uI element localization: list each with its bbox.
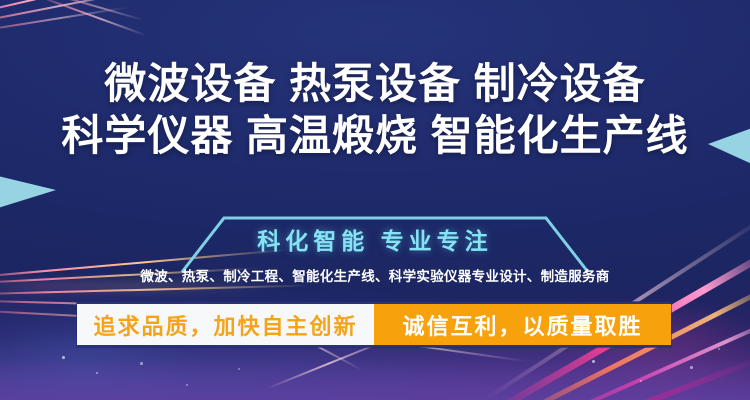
slogan-right[interactable]: 诚信互利，以质量取胜 bbox=[374, 302, 671, 347]
sparkle-dot bbox=[640, 380, 642, 382]
slogan-left[interactable]: 追求品质，加快自主创新 bbox=[77, 302, 374, 347]
sparkle-dot bbox=[186, 384, 188, 386]
sparkle-dot bbox=[592, 360, 595, 363]
promo-banner: 微波设备 热泵设备 制冷设备 科学仪器 高温煅烧 智能化生产线 科化智能 专业专… bbox=[0, 0, 750, 400]
headline-line-2: 科学仪器 高温煅烧 智能化生产线 bbox=[0, 110, 750, 162]
sparkle-dot bbox=[718, 348, 720, 350]
page-title: 微波设备 热泵设备 制冷设备 科学仪器 高温煅烧 智能化生产线 bbox=[0, 58, 750, 162]
subtitle-text: 科化智能 专业专注 bbox=[0, 222, 750, 256]
sparkle-dot bbox=[690, 366, 693, 369]
slogan-bar: 追求品质，加快自主创新 诚信互利，以质量取胜 bbox=[77, 302, 671, 347]
left-arrow-icon bbox=[0, 176, 56, 208]
sparkle-dot bbox=[62, 356, 65, 359]
sparkle-dot bbox=[238, 368, 240, 370]
sparkle-dot bbox=[96, 372, 98, 374]
sub-description-text: 微波、热泵、制冷工程、智能化生产线、科学实验仪器专业设计、制造服务商 bbox=[0, 265, 750, 285]
sparkle-dot bbox=[140, 362, 143, 365]
headline-line-1: 微波设备 热泵设备 制冷设备 bbox=[0, 58, 750, 110]
